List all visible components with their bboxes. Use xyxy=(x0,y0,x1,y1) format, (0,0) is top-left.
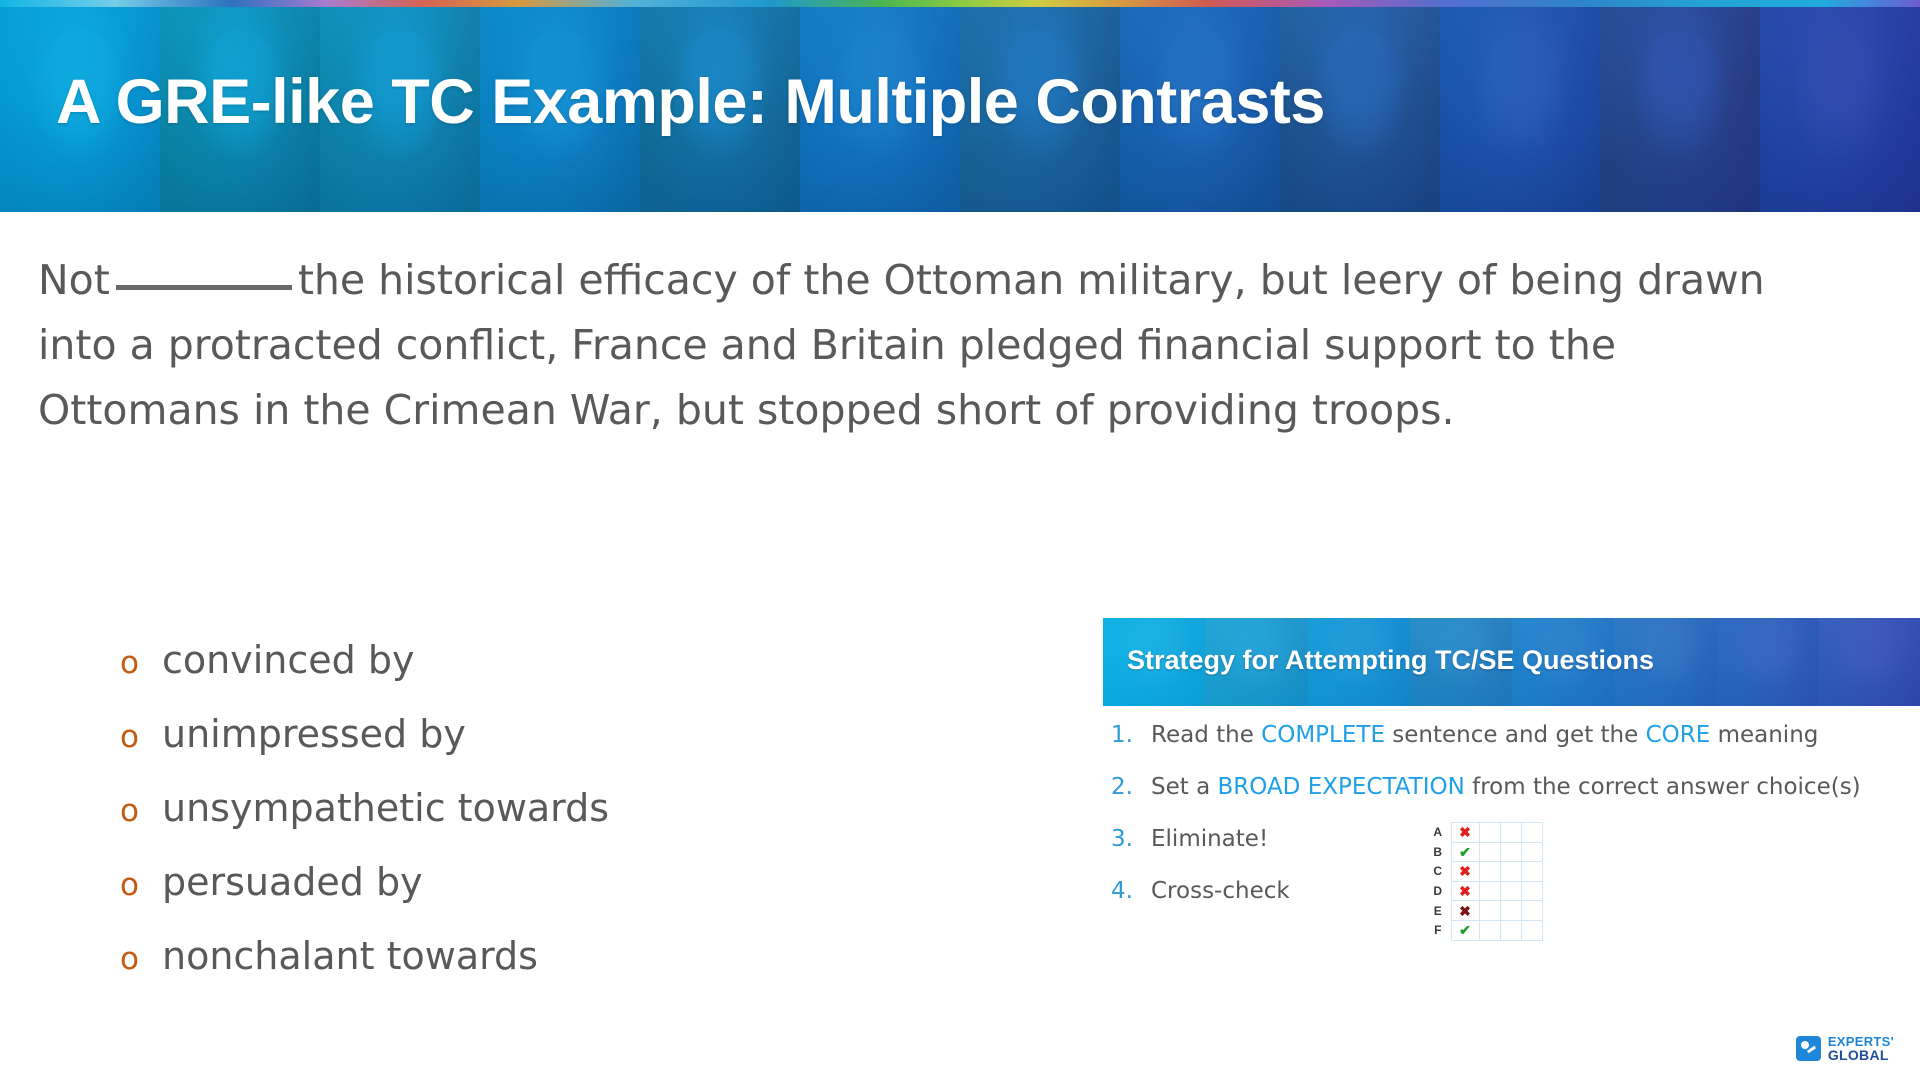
slide: A GRE-like TC Example: Multiple Contrast… xyxy=(0,0,1920,1080)
choice-bullet-icon: o xyxy=(120,944,162,975)
logo-text: EXPERTS' GLOBAL xyxy=(1828,1035,1894,1062)
cross-icon: ✖ xyxy=(1451,901,1479,921)
choice-bullet-icon: o xyxy=(120,796,162,827)
table-row: F ✔ xyxy=(1425,920,1543,940)
grid-cell xyxy=(1479,842,1500,862)
question-sentence: Notthe historical efficacy of the Ottoma… xyxy=(38,248,1828,444)
grid-cell xyxy=(1521,881,1542,901)
choice-label: persuaded by xyxy=(162,860,423,904)
list-item[interactable]: o nonchalant towards xyxy=(120,934,880,980)
grid-cell xyxy=(1521,862,1542,882)
grid-cell xyxy=(1500,881,1521,901)
elimination-table: A ✖ B ✔ C ✖ D ✖ E ✖ xyxy=(1425,822,1543,941)
table-row: D ✖ xyxy=(1425,881,1543,901)
grid-cell xyxy=(1500,920,1521,940)
step-text-highlight: BROAD EXPECTATION xyxy=(1217,774,1464,800)
table-row: B ✔ xyxy=(1425,842,1543,862)
step-text-part: meaning xyxy=(1710,722,1818,748)
grid-cell xyxy=(1521,901,1542,921)
step-number: 3. xyxy=(1111,826,1151,852)
logo-mark-icon xyxy=(1796,1036,1821,1061)
experts-global-logo: EXPERTS' GLOBAL xyxy=(1796,1035,1894,1062)
check-icon: ✔ xyxy=(1451,842,1479,862)
strategy-panel-header: Strategy for Attempting TC/SE Questions xyxy=(1103,618,1920,706)
grid-cell xyxy=(1479,901,1500,921)
choice-label: convinced by xyxy=(162,638,414,682)
grid-cell xyxy=(1500,901,1521,921)
strategy-title: Strategy for Attempting TC/SE Questions xyxy=(1127,645,1654,676)
step-text: Cross-check xyxy=(1151,878,1290,904)
step-text-part: Read the xyxy=(1151,722,1261,748)
step-text: Read the COMPLETE sentence and get the C… xyxy=(1151,722,1818,748)
grid-cell xyxy=(1479,920,1500,940)
step-text-part: from the correct answer choice(s) xyxy=(1465,774,1861,800)
row-label: A xyxy=(1425,823,1451,843)
step-text-part: sentence and get the xyxy=(1385,722,1646,748)
check-icon: ✔ xyxy=(1451,920,1479,940)
row-label: D xyxy=(1425,881,1451,901)
grid-cell xyxy=(1500,842,1521,862)
step-number: 1. xyxy=(1111,722,1151,748)
step-text-highlight: CORE xyxy=(1646,722,1711,748)
grid-cell xyxy=(1521,920,1542,940)
choice-label: unimpressed by xyxy=(162,712,466,756)
elimination-grid: A ✖ B ✔ C ✖ D ✖ E ✖ xyxy=(1425,822,1543,940)
choice-label: nonchalant towards xyxy=(162,934,538,978)
grid-cell xyxy=(1521,823,1542,843)
header-rainbow-strip xyxy=(0,0,1920,7)
page-title: A GRE-like TC Example: Multiple Contrast… xyxy=(56,66,1325,138)
cross-icon: ✖ xyxy=(1451,823,1479,843)
grid-cell xyxy=(1479,862,1500,882)
list-item[interactable]: o convinced by xyxy=(120,638,880,684)
row-label: B xyxy=(1425,842,1451,862)
choice-label: unsympathetic towards xyxy=(162,786,609,830)
grid-cell xyxy=(1479,823,1500,843)
choice-bullet-icon: o xyxy=(120,722,162,753)
row-label: C xyxy=(1425,862,1451,882)
grid-cell xyxy=(1479,881,1500,901)
choice-bullet-icon: o xyxy=(120,870,162,901)
step-text-highlight: COMPLETE xyxy=(1261,722,1385,748)
grid-cell xyxy=(1521,842,1542,862)
answer-blank[interactable] xyxy=(116,285,292,290)
step-number: 2. xyxy=(1111,774,1151,800)
slide-header-banner: A GRE-like TC Example: Multiple Contrast… xyxy=(0,0,1920,212)
choice-bullet-icon: o xyxy=(120,648,162,679)
step-number: 4. xyxy=(1111,878,1151,904)
list-item: 2. Set a BROAD EXPECTATION from the corr… xyxy=(1111,774,1920,800)
table-row: A ✖ xyxy=(1425,823,1543,843)
cross-icon: ✖ xyxy=(1451,881,1479,901)
table-row: C ✖ xyxy=(1425,862,1543,882)
cross-icon: ✖ xyxy=(1451,862,1479,882)
list-item: 1. Read the COMPLETE sentence and get th… xyxy=(1111,722,1920,748)
logo-line-2: GLOBAL xyxy=(1828,1048,1894,1062)
list-item[interactable]: o unsympathetic towards xyxy=(120,786,880,832)
list-item[interactable]: o persuaded by xyxy=(120,860,880,906)
list-item[interactable]: o unimpressed by xyxy=(120,712,880,758)
answer-choices-list: o convinced by o unimpressed by o unsymp… xyxy=(120,638,880,1008)
step-text: Set a BROAD EXPECTATION from the correct… xyxy=(1151,774,1861,800)
sentence-before-blank: Not xyxy=(38,256,110,304)
row-label: F xyxy=(1425,920,1451,940)
step-text: Eliminate! xyxy=(1151,826,1268,852)
row-label: E xyxy=(1425,901,1451,921)
table-row: E ✖ xyxy=(1425,901,1543,921)
step-text-part: Set a xyxy=(1151,774,1217,800)
grid-cell xyxy=(1500,862,1521,882)
sentence-after-blank: the historical efficacy of the Ottoman m… xyxy=(38,256,1765,434)
grid-cell xyxy=(1500,823,1521,843)
